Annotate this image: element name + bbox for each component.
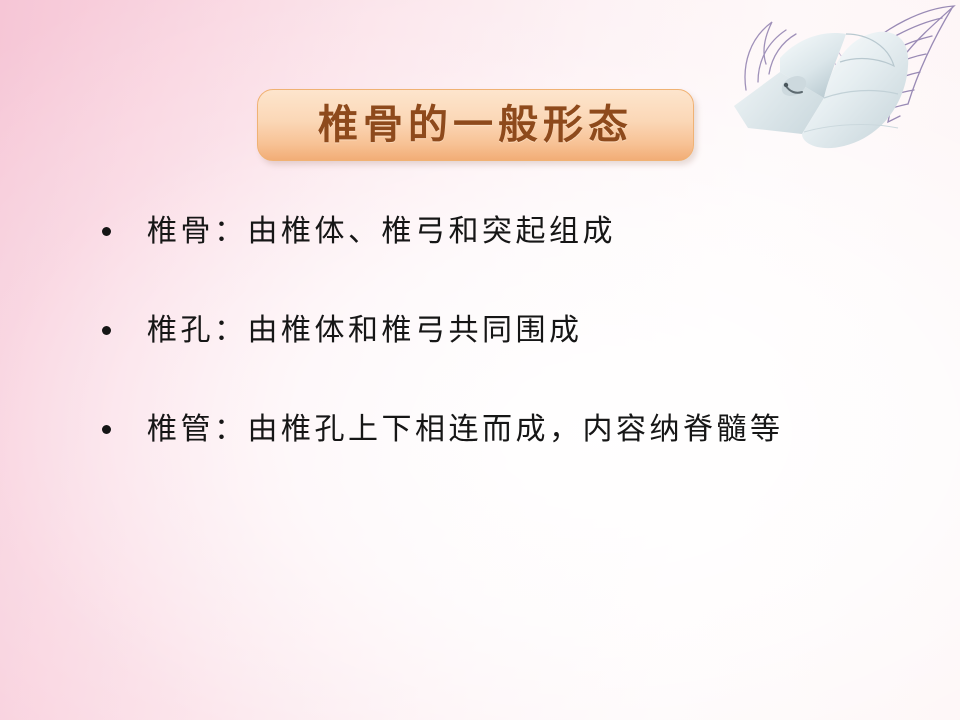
title-plaque: 椎骨的一般形态 bbox=[257, 89, 694, 161]
bullet-dot-icon bbox=[102, 326, 111, 335]
bullet-dot-icon bbox=[102, 425, 111, 434]
slide-canvas: 椎骨的一般形态 椎骨：由椎体、椎弓和突起组成 椎孔：由椎体和椎弓共同围成 椎管：… bbox=[0, 0, 960, 720]
list-item: 椎骨：由椎体、椎弓和突起组成 bbox=[96, 198, 916, 264]
nurse-cap-shape bbox=[734, 32, 908, 148]
list-item: 椎孔：由椎体和椎弓共同围成 bbox=[96, 297, 916, 363]
list-item-text: 椎管：由椎孔上下相连而成，内容纳脊髓等 bbox=[147, 413, 784, 446]
list-item-text: 椎孔：由椎体和椎弓共同围成 bbox=[147, 314, 583, 347]
right-wing-icon bbox=[854, 6, 954, 122]
list-item-text: 椎骨：由椎体、椎弓和突起组成 bbox=[147, 215, 616, 248]
wing-overlay-strokes bbox=[814, 46, 862, 102]
bullet-list: 椎骨：由椎体、椎弓和突起组成 椎孔：由椎体和椎弓共同围成 椎管：由椎孔上下相连而… bbox=[96, 198, 916, 495]
bullet-dot-icon bbox=[102, 227, 111, 236]
page-title: 椎骨的一般形态 bbox=[318, 105, 633, 145]
left-wing-icon bbox=[745, 22, 796, 90]
list-item: 椎管：由椎孔上下相连而成，内容纳脊髓等 bbox=[96, 396, 916, 462]
winged-nurse-cap-image bbox=[728, 0, 960, 154]
